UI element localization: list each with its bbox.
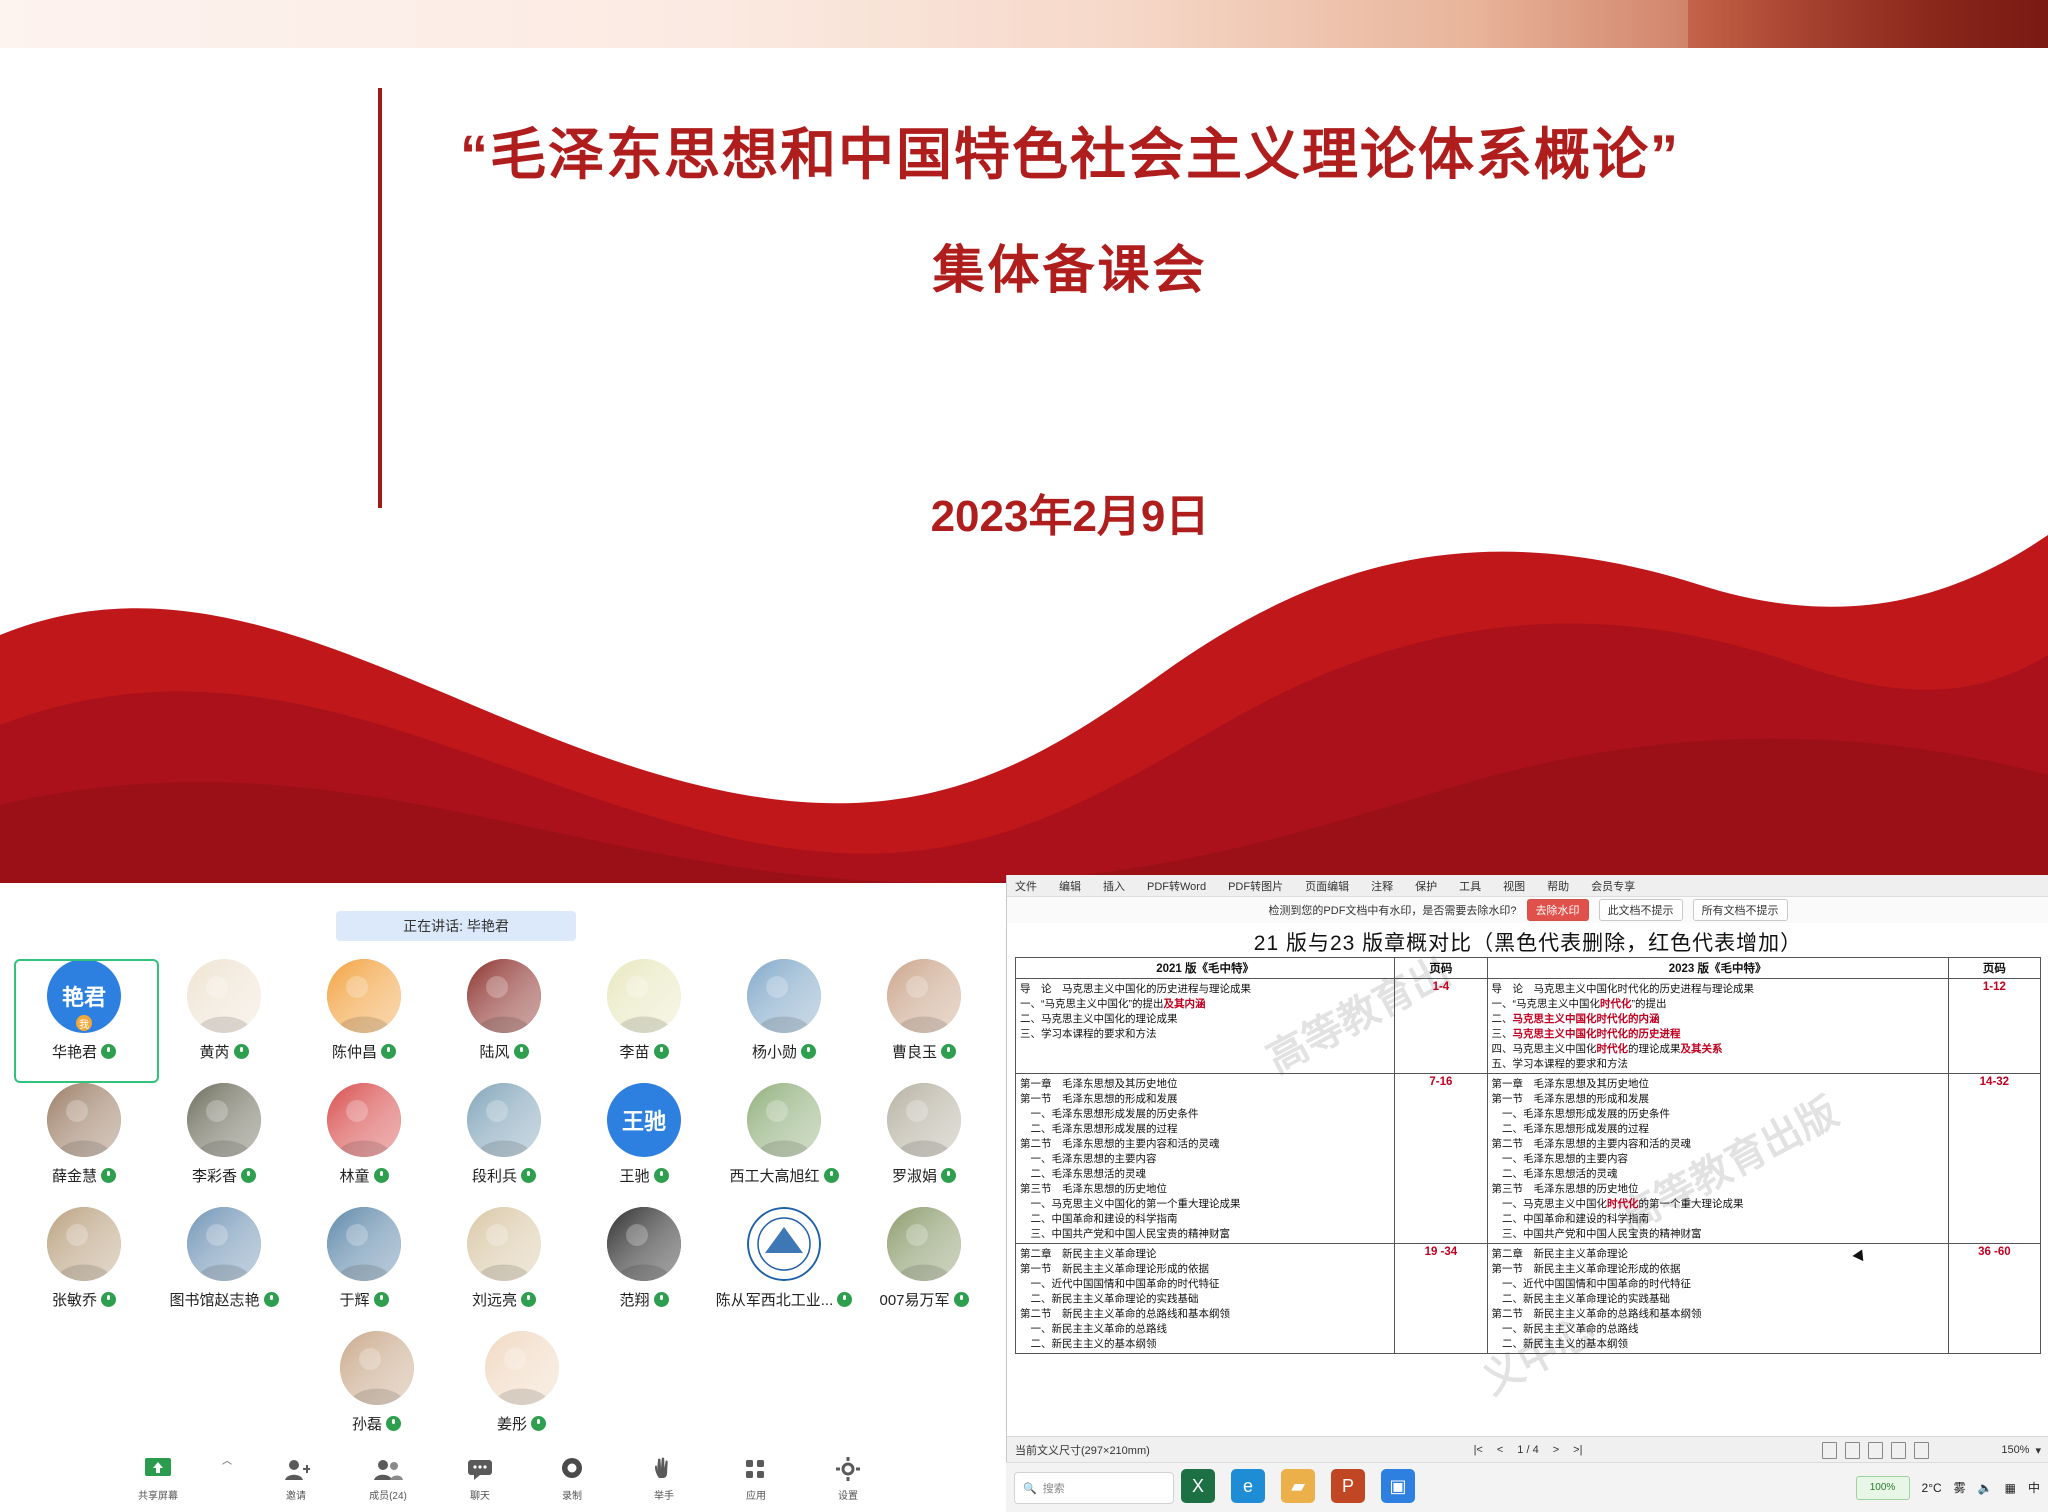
participant-tile[interactable]: 姜彤 <box>449 1331 594 1455</box>
cell-2023-outline: 第二章 新民主主义革命理论第一节 新民主主义革命理论形成的依据 一、近代中国国情… <box>1487 1244 1948 1354</box>
toolbar-item-label: 成员(24) <box>369 1487 407 1502</box>
participant-name: 曹良玉 <box>892 1041 956 1062</box>
settings-icon[interactable] <box>833 1454 863 1484</box>
microphone-icon <box>101 1168 116 1183</box>
prev-page-icon[interactable]: < <box>1497 1444 1503 1456</box>
toolbar-item-label: 共享屏幕 <box>138 1487 178 1502</box>
toolbar-item-label: 举手 <box>654 1487 674 1502</box>
avatar <box>747 1083 821 1157</box>
cell-2023-page: 1-12 <box>1948 979 2040 1074</box>
avatar <box>887 1083 961 1157</box>
comparison-table: 2021 版《毛中特》页码2023 版《毛中特》页码 导 论 马克思主义中国化的… <box>1015 957 2041 1354</box>
speaking-banner: 正在讲话: 毕艳君 <box>336 911 576 941</box>
dont-prompt-all-docs-button[interactable]: 所有文档不提示 <box>1693 899 1788 921</box>
slide-title-line1: “毛泽东思想和中国特色社会主义理论体系概论” <box>420 110 1720 191</box>
pdf-menu-item[interactable]: 编辑 <box>1059 878 1081 894</box>
avatar <box>327 1083 401 1157</box>
table-column-header: 页码 <box>1395 958 1487 979</box>
microphone-icon <box>654 1044 669 1059</box>
pdf-menu-item[interactable]: 插入 <box>1103 878 1125 894</box>
slide-title-line2: 集体备课会 <box>420 228 1720 303</box>
meeting-app-icon[interactable]: ▣ <box>1381 1469 1415 1503</box>
edge-app-icon[interactable]: e <box>1231 1469 1265 1503</box>
participant-tile[interactable]: 杨小勋 <box>714 959 854 1083</box>
participant-name: 西工大高旭红 <box>729 1165 838 1186</box>
pdf-menu-item[interactable]: 会员专享 <box>1591 878 1635 894</box>
microphone-icon <box>531 1416 546 1431</box>
slide-banner-photo <box>1688 0 2048 48</box>
participant-tile[interactable]: 林童 <box>294 1083 434 1207</box>
microphone-icon <box>264 1292 279 1307</box>
cell-2021-page: 7-16 <box>1395 1074 1487 1244</box>
last-page-icon[interactable]: >| <box>1573 1444 1582 1456</box>
participant-name: 陈仲昌 <box>332 1041 396 1062</box>
participant-tile[interactable]: 007易万军 <box>854 1207 994 1331</box>
toolbar-settings[interactable]: 设置 <box>820 1454 876 1502</box>
toolbar-chat[interactable]: 聊天 <box>452 1454 508 1502</box>
cell-2023-page: 14-32 <box>1948 1074 2040 1244</box>
participant-name: 杨小勋 <box>752 1041 816 1062</box>
microphone-icon <box>234 1044 249 1059</box>
microphone-icon <box>941 1168 956 1183</box>
table-column-header: 2023 版《毛中特》 <box>1487 958 1948 979</box>
avatar <box>747 1207 821 1281</box>
avatar <box>747 959 821 1033</box>
document-heading: 21 版与23 版章概对比（黑色代表删除，红色代表增加） <box>1007 927 2048 957</box>
participant-tile[interactable]: 黄芮 <box>154 959 294 1083</box>
slide-top-banner <box>0 0 2048 48</box>
cell-2021-outline: 第二章 新民主主义革命理论第一节 新民主主义革命理论形成的依据 一、近代中国国情… <box>1016 1244 1395 1354</box>
cell-2021-page: 19 -34 <box>1395 1244 1487 1354</box>
pdf-menu-item[interactable]: 页面编辑 <box>1305 878 1349 894</box>
network-icon[interactable]: ▦ <box>2005 1481 2016 1495</box>
pdf-page-canvas[interactable]: 高等教育出 高等教育出版 义中心 21 版与23 版章概对比（黑色代表删除，红色… <box>1007 923 2048 1463</box>
meeting-toolbar: 共享屏幕︿邀请成员(24)聊天录制举手应用设置 <box>0 1444 1006 1512</box>
share-options-caret-icon[interactable]: ︿ <box>222 1452 232 1467</box>
avatar <box>47 1207 121 1281</box>
page-navigation[interactable]: |< < 1 / 4 > >| <box>1474 1444 1583 1456</box>
cell-2023-page: 36 -60 <box>1948 1244 2040 1354</box>
participant-grid: 艳君我华艳君黄芮陈仲昌陆风李苗杨小勋曹良玉薛金慧李彩香林童段利兵王驰王驰西工大高… <box>14 959 994 1455</box>
participant-tile[interactable]: 陆风 <box>434 959 574 1083</box>
avatar <box>607 959 681 1033</box>
avatar <box>467 1207 541 1281</box>
avatar <box>887 1207 961 1281</box>
microphone-icon <box>941 1044 956 1059</box>
pdf-menu-item[interactable]: PDF转Word <box>1147 878 1206 894</box>
continuous-view-icon[interactable] <box>1845 1442 1860 1459</box>
pdf-menu-item[interactable]: 视图 <box>1503 878 1525 894</box>
avatar <box>607 1207 681 1281</box>
pdf-menu-item[interactable]: 注释 <box>1371 878 1393 894</box>
cell-2023-outline: 导 论 马克思主义中国化时代化的历史进程与理论成果一、“马克思主义中国化时代化”… <box>1487 979 1948 1074</box>
pdf-menu-item[interactable]: PDF转图片 <box>1228 878 1283 894</box>
microphone-icon <box>801 1044 816 1059</box>
avatar <box>187 1083 261 1157</box>
toolbar-item-label: 应用 <box>746 1487 766 1502</box>
participant-tile[interactable]: 李彩香 <box>154 1083 294 1207</box>
search-placeholder: 搜索 <box>1043 1480 1065 1496</box>
participant-name: 林童 <box>339 1165 388 1186</box>
zoom-control[interactable]: 150% ▾ <box>2001 1444 2041 1457</box>
members-icon[interactable] <box>373 1454 403 1484</box>
chevron-down-icon[interactable]: ▾ <box>2035 1444 2041 1457</box>
pdf-menu-item[interactable]: 保护 <box>1415 878 1437 894</box>
participant-tile[interactable]: 范翔 <box>574 1207 714 1331</box>
chat-icon[interactable] <box>465 1454 495 1484</box>
microphone-icon <box>954 1292 969 1307</box>
pdf-menu-item[interactable]: 工具 <box>1459 878 1481 894</box>
participant-tile[interactable]: 曹良玉 <box>854 959 994 1083</box>
windows-taskbar: 🔍 搜索 Xe▰P▣ 100% 2°C 雾 🔈 ▦ 中 <box>1006 1462 2048 1512</box>
toolbar-raise-hand[interactable]: 举手 <box>636 1454 692 1502</box>
participant-name: 黄芮 <box>199 1041 248 1062</box>
participant-name: 李彩香 <box>192 1165 256 1186</box>
toolbar-invite[interactable]: 邀请 <box>268 1454 324 1502</box>
invite-icon[interactable] <box>281 1454 311 1484</box>
microphone-icon <box>837 1292 852 1307</box>
slide-red-ribbon <box>0 475 2048 895</box>
participant-name: 姜彤 <box>497 1413 546 1434</box>
pdf-status-bar: 当前文义尺寸(297×210mm) |< < 1 / 4 > >| 150% ▾ <box>1007 1436 2048 1463</box>
toolbar-item-label: 设置 <box>838 1487 858 1502</box>
participant-name: 于辉 <box>339 1289 388 1310</box>
participant-tile[interactable]: 张敏乔 <box>14 1207 154 1331</box>
toolbar-record[interactable]: 录制 <box>544 1454 600 1502</box>
powerpoint-app-icon[interactable]: P <box>1331 1469 1365 1503</box>
volume-icon[interactable]: 🔈 <box>1978 1481 1993 1495</box>
participant-name: 王驰 <box>619 1165 668 1186</box>
table-row: 第一章 毛泽东思想及其历史地位第一节 毛泽东思想的形成和发展 一、毛泽东思想形成… <box>1016 1074 2041 1244</box>
raise-hand-icon[interactable] <box>649 1454 679 1484</box>
avatar <box>340 1331 414 1405</box>
microphone-icon <box>824 1168 839 1183</box>
pdf-menu-item[interactable]: 帮助 <box>1547 878 1569 894</box>
participant-tile[interactable]: 陈从军西北工业... <box>714 1207 854 1331</box>
avatar <box>187 959 261 1033</box>
microphone-icon <box>521 1292 536 1307</box>
participant-name: 范翔 <box>619 1289 668 1310</box>
avatar <box>887 959 961 1033</box>
system-tray: 100% 2°C 雾 🔈 ▦ 中 <box>1856 1463 2040 1512</box>
first-page-icon[interactable]: |< <box>1474 1444 1483 1456</box>
dont-prompt-this-doc-button[interactable]: 此文档不提示 <box>1599 899 1683 921</box>
participant-name: 罗淑娟 <box>892 1165 956 1186</box>
next-page-icon[interactable]: > <box>1553 1444 1559 1456</box>
share-screen-icon[interactable] <box>143 1454 173 1484</box>
table-header-row: 2021 版《毛中特》页码2023 版《毛中特》页码 <box>1016 958 2041 979</box>
participant-name: 李苗 <box>619 1041 668 1062</box>
participant-name: 007易万军 <box>879 1289 968 1310</box>
avatar <box>47 1083 121 1157</box>
weather-desc[interactable]: 雾 <box>1954 1479 1966 1496</box>
microphone-icon <box>241 1168 256 1183</box>
participant-name: 刘远亮 <box>472 1289 536 1310</box>
participant-name: 图书馆赵志艳 <box>169 1289 278 1310</box>
watermark-message: 检测到您的PDF文档中有水印，是否需要去除水印? <box>1268 902 1516 918</box>
remove-watermark-button[interactable]: 去除水印 <box>1527 899 1589 921</box>
microphone-icon <box>374 1292 389 1307</box>
participant-name: 张敏乔 <box>52 1289 116 1310</box>
microphone-icon <box>374 1168 389 1183</box>
microphone-icon <box>521 1168 536 1183</box>
doc-size-label: 当前文义尺寸(297×210mm) <box>1007 1442 1150 1458</box>
participant-tile[interactable]: 刘远亮 <box>434 1207 574 1331</box>
view-mode-icons[interactable] <box>1822 1442 1929 1459</box>
toolbar-apps[interactable]: 应用 <box>728 1454 784 1502</box>
cell-2023-outline: 第一章 毛泽东思想及其历史地位第一节 毛泽东思想的形成和发展 一、毛泽东思想形成… <box>1487 1074 1948 1244</box>
avatar <box>485 1331 559 1405</box>
microphone-icon <box>386 1416 401 1431</box>
record-icon[interactable] <box>557 1454 587 1484</box>
slide-vertical-rule <box>378 88 382 508</box>
cell-2021-outline: 导 论 马克思主义中国化的历史进程与理论成果一、“马克思主义中国化”的提出及其内… <box>1016 979 1395 1074</box>
avatar <box>327 1207 401 1281</box>
participant-tile[interactable]: 陈仲昌 <box>294 959 434 1083</box>
participant-tile[interactable]: 段利兵 <box>434 1083 574 1207</box>
facing-view-icon[interactable] <box>1891 1442 1906 1459</box>
microphone-icon <box>514 1044 529 1059</box>
pdf-reader-window: 文件编辑插入PDF转WordPDF转图片页面编辑注释保护工具视图帮助会员专享 检… <box>1006 875 2048 1512</box>
two-page-view-icon[interactable] <box>1868 1442 1883 1459</box>
battery-indicator[interactable]: 100% <box>1856 1476 1910 1500</box>
active-speaker-highlight <box>14 959 159 1083</box>
excel-app-icon[interactable]: X <box>1181 1469 1215 1503</box>
participant-tile[interactable]: 于辉 <box>294 1207 434 1331</box>
avatar <box>327 959 401 1033</box>
toolbar-share-screen[interactable]: 共享屏幕 <box>130 1454 186 1502</box>
single-page-view-icon[interactable] <box>1822 1442 1837 1459</box>
watermark-prompt-bar: 检测到您的PDF文档中有水印，是否需要去除水印? 去除水印 此文档不提示 所有文… <box>1007 897 2048 924</box>
participant-name: 陆风 <box>479 1041 528 1062</box>
toolbar-item-label: 录制 <box>562 1487 582 1502</box>
page-indicator: 1 / 4 <box>1517 1444 1538 1456</box>
participant-tile[interactable]: 图书馆赵志艳 <box>154 1207 294 1331</box>
toolbar-members[interactable]: 成员(24) <box>360 1454 416 1502</box>
taskbar-app-icons[interactable]: Xe▰P▣ <box>1181 1469 1415 1503</box>
ime-icon[interactable]: 中 <box>2028 1479 2040 1496</box>
fullscreen-view-icon[interactable] <box>1914 1442 1929 1459</box>
participant-tile[interactable]: 西工大高旭红 <box>714 1083 854 1207</box>
folder-app-icon[interactable]: ▰ <box>1281 1469 1315 1503</box>
table-column-header: 页码 <box>1948 958 2040 979</box>
weather-temp[interactable]: 2°C <box>1922 1481 1942 1495</box>
participant-name: 孙磊 <box>352 1413 401 1434</box>
avatar: 王驰 <box>607 1083 681 1157</box>
microphone-icon <box>101 1292 116 1307</box>
microphone-icon <box>654 1168 669 1183</box>
meeting-window: 正在讲话: 毕艳君 艳君我华艳君黄芮陈仲昌陆风李苗杨小勋曹良玉薛金慧李彩香林童段… <box>0 895 1006 1512</box>
presentation-slide: “毛泽东思想和中国特色社会主义理论体系概论” 集体备课会 2023年2月9日 <box>0 0 2048 895</box>
microphone-icon <box>381 1044 396 1059</box>
participant-name: 薛金慧 <box>52 1165 116 1186</box>
taskbar-search-input[interactable]: 🔍 搜索 <box>1014 1472 1174 1504</box>
participant-tile[interactable]: 王驰王驰 <box>574 1083 714 1207</box>
apps-icon[interactable] <box>741 1454 771 1484</box>
table-row: 第二章 新民主主义革命理论第一节 新民主主义革命理论形成的依据 一、近代中国国情… <box>1016 1244 2041 1354</box>
toolbar-item-label: 邀请 <box>286 1487 306 1502</box>
cell-2021-page: 1-4 <box>1395 979 1487 1074</box>
avatar <box>467 959 541 1033</box>
cell-2021-outline: 第一章 毛泽东思想及其历史地位第一节 毛泽东思想的形成和发展 一、毛泽东思想形成… <box>1016 1074 1395 1244</box>
pdf-menu-item[interactable]: 文件 <box>1015 878 1037 894</box>
zoom-value: 150% <box>2001 1444 2029 1456</box>
participant-tile[interactable]: 李苗 <box>574 959 714 1083</box>
participant-tile[interactable]: 罗淑娟 <box>854 1083 994 1207</box>
microphone-icon <box>654 1292 669 1307</box>
participant-tile[interactable]: 薛金慧 <box>14 1083 154 1207</box>
participant-tile[interactable]: 孙磊 <box>304 1331 449 1455</box>
toolbar-item-label: 聊天 <box>470 1487 490 1502</box>
avatar <box>187 1207 261 1281</box>
table-column-header: 2021 版《毛中特》 <box>1016 958 1395 979</box>
participant-name: 陈从军西北工业... <box>716 1289 853 1310</box>
avatar <box>467 1083 541 1157</box>
table-row: 导 论 马克思主义中国化的历史进程与理论成果一、“马克思主义中国化”的提出及其内… <box>1016 979 2041 1074</box>
participant-name: 段利兵 <box>472 1165 536 1186</box>
search-icon: 🔍 <box>1023 1482 1037 1495</box>
pdf-menu-bar[interactable]: 文件编辑插入PDF转WordPDF转图片页面编辑注释保护工具视图帮助会员专享 <box>1007 875 2048 897</box>
